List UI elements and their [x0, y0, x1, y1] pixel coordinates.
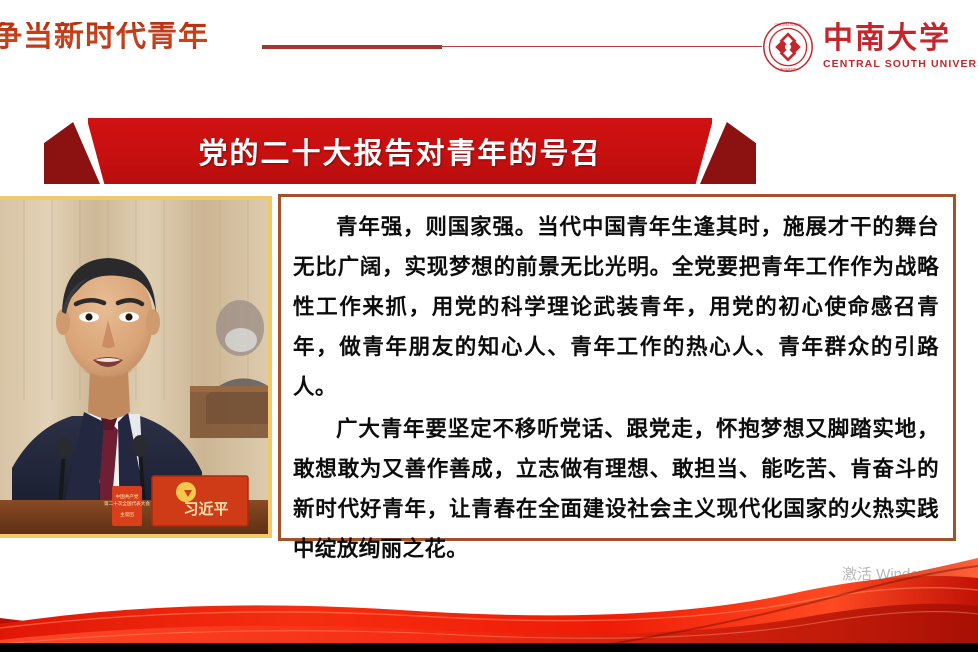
university-logo: CENTRAL SOUTH UNIVERSITY 中南大学 CENTRAL SO…	[762, 18, 968, 76]
bottom-wave-decoration	[0, 532, 978, 652]
bottom-black-bar	[0, 643, 978, 652]
content-text-box: 青年强，则国家强。当代中国青年生逢其时，施展才干的舞台无比广阔，实现梦想的前景无…	[278, 194, 956, 541]
svg-text:习近平: 习近平	[183, 500, 228, 518]
header-rule-thin	[440, 46, 762, 47]
content-paragraph-1: 青年强，则国家强。当代中国青年生逢其时，施展才干的舞台无比广阔，实现梦想的前景无…	[293, 207, 939, 407]
svg-text:UNIVERSITY: UNIVERSITY	[778, 68, 798, 72]
presentation-slide: 争当新时代青年 CENTRAL SOUTH UNIVERSITY 中南大学 CE…	[0, 0, 978, 652]
section-banner: 党的二十大报告对青年的号召	[44, 116, 756, 192]
speaker-photo: 习近平 中国共产党 第二十次全国代表大会 主席团	[0, 196, 272, 538]
svg-text:CENTRAL SOUTH: CENTRAL SOUTH	[775, 23, 802, 27]
university-emblem-icon: CENTRAL SOUTH UNIVERSITY	[762, 21, 814, 73]
university-logo-text: 中南大学 CENTRAL SOUTH UNIVERSITY	[823, 24, 978, 70]
svg-text:中国共产党: 中国共产党	[116, 493, 139, 500]
university-name-cn: 中南大学	[823, 24, 978, 54]
banner-plate: 党的二十大报告对青年的号召	[86, 116, 714, 186]
page-title: 争当新时代青年	[0, 22, 209, 52]
svg-text:第二十次全国代表大会: 第二十次全国代表大会	[104, 500, 150, 507]
header-rule-thick	[262, 45, 442, 49]
svg-text:主席团: 主席团	[120, 511, 134, 518]
university-name-en: CENTRAL SOUTH UNIVERSITY	[823, 59, 978, 70]
banner-title: 党的二十大报告对青年的号召	[198, 130, 601, 172]
